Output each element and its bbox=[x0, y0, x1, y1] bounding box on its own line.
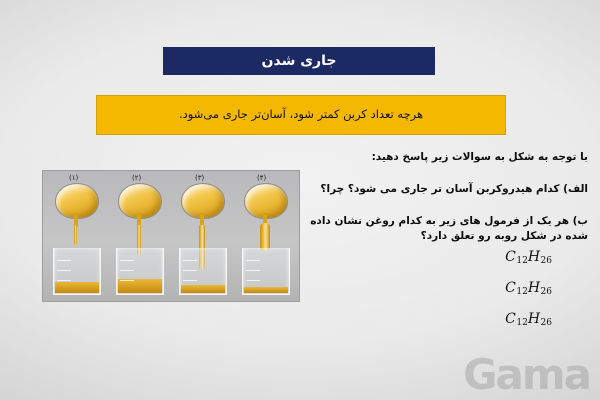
formula-carbon-count: 12 bbox=[516, 318, 528, 328]
figure-label-4: (۴) bbox=[257, 174, 266, 182]
beaker-tick bbox=[183, 280, 197, 281]
question-b: ب) هر یک از فرمول های زیر به کدام روغن ن… bbox=[292, 214, 588, 242]
beaker-tick bbox=[183, 260, 197, 261]
page-title: جاری شدن bbox=[262, 54, 337, 68]
funnel-bulb-icon bbox=[181, 183, 225, 219]
formula-carbon-count: 12 bbox=[516, 287, 528, 297]
beaker-tick bbox=[57, 270, 71, 271]
beaker-tick bbox=[57, 260, 71, 261]
beaker-icon bbox=[53, 248, 101, 295]
funnel-setup-3 bbox=[175, 183, 231, 299]
beaker-tick bbox=[57, 280, 71, 281]
questions-block: با توجه به شکل به سوالات زیر پاسخ دهید: … bbox=[292, 150, 588, 342]
oil-stream-icon bbox=[74, 225, 77, 245]
figure-label-2: (۲) bbox=[132, 174, 141, 182]
figure-label-3: (۳) bbox=[195, 174, 204, 182]
beaker-liquid bbox=[181, 285, 225, 293]
formula-carbon-count: 12 bbox=[516, 256, 528, 266]
beaker-icon bbox=[179, 248, 227, 295]
slide: جاری شدن هرچه تعداد کربن کمتر شود، آسان‌… bbox=[0, 0, 600, 400]
beaker-icon bbox=[116, 248, 164, 295]
slide-title-bar: جاری شدن bbox=[163, 47, 435, 75]
beaker-icon bbox=[242, 248, 290, 295]
question-intro: با توجه به شکل به سوالات زیر پاسخ دهید: bbox=[292, 150, 588, 164]
formula-hydrogen-symbol: H bbox=[528, 249, 540, 265]
experiment-photo: (۱) (۲) (۳) (۴) bbox=[42, 170, 300, 302]
figure-label-1: (۱) bbox=[69, 174, 78, 182]
formula-carbon-symbol: C bbox=[505, 311, 516, 327]
beaker-liquid bbox=[244, 287, 288, 293]
funnel-setup-4 bbox=[238, 183, 294, 299]
formula-hydrogen-count: 26 bbox=[540, 318, 552, 328]
beaker-tick bbox=[183, 270, 197, 271]
funnel-bulb-icon bbox=[118, 183, 162, 219]
formula-list: C12H26 C12H26 C12H26 bbox=[292, 249, 588, 329]
beaker-tick bbox=[120, 280, 134, 281]
oil-stream-icon bbox=[260, 223, 270, 251]
callout-text: هرچه تعداد کربن کمتر شود، آسان‌تر جاری م… bbox=[179, 109, 423, 121]
beaker-liquid bbox=[55, 282, 99, 293]
funnel-setup-2 bbox=[112, 183, 168, 299]
funnel-setup-1 bbox=[49, 183, 105, 299]
beaker-tick bbox=[120, 260, 134, 261]
formula-hydrogen-count: 26 bbox=[540, 256, 552, 266]
beaker-tick bbox=[120, 270, 134, 271]
beaker-tick bbox=[246, 280, 260, 281]
funnel-bulb-icon bbox=[55, 183, 99, 219]
formula-item: C12H26 bbox=[292, 311, 588, 328]
callout-box: هرچه تعداد کربن کمتر شود، آسان‌تر جاری م… bbox=[96, 95, 506, 135]
funnel-bulb-icon bbox=[244, 183, 288, 219]
beaker-tick bbox=[246, 260, 260, 261]
beaker-liquid bbox=[118, 279, 162, 293]
formula-carbon-symbol: C bbox=[505, 280, 516, 296]
formula-hydrogen-count: 26 bbox=[540, 287, 552, 297]
watermark-logo: Gama bbox=[463, 354, 590, 396]
formula-carbon-symbol: C bbox=[505, 249, 516, 265]
question-a: الف) کدام هیدروکربن آسان تر جاری می شود؟… bbox=[292, 182, 588, 196]
formula-item: C12H26 bbox=[292, 280, 588, 297]
formula-hydrogen-symbol: H bbox=[528, 311, 540, 327]
beaker-tick bbox=[246, 270, 260, 271]
formula-item: C12H26 bbox=[292, 249, 588, 266]
formula-hydrogen-symbol: H bbox=[528, 280, 540, 296]
